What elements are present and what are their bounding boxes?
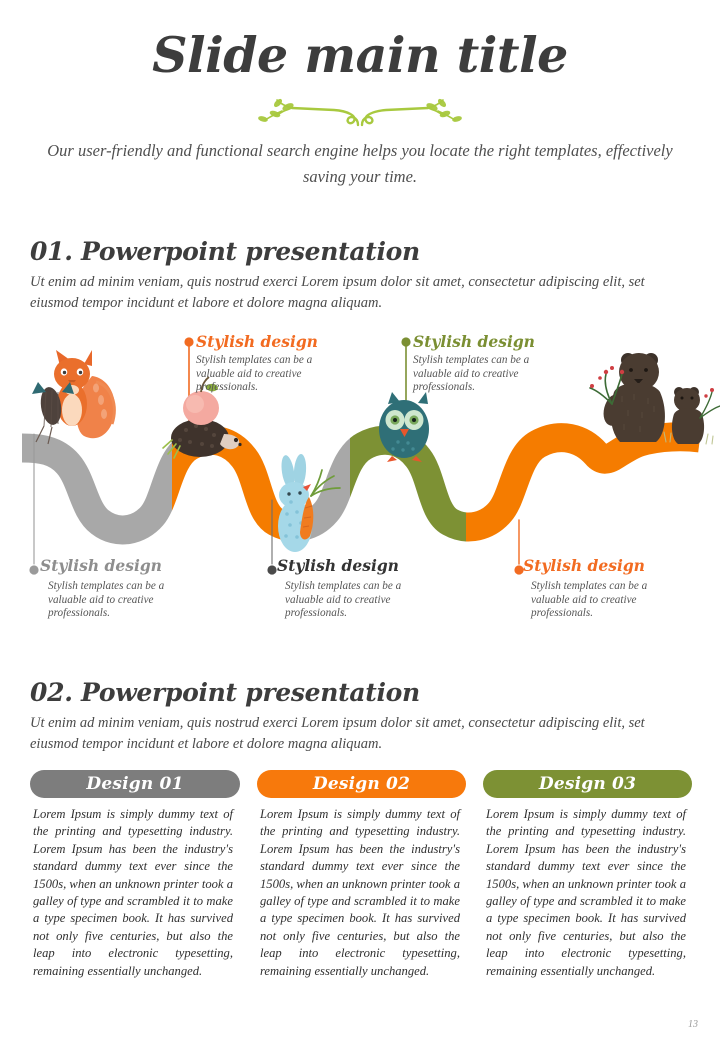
callout-bottom-3: Stylish design Stylish templates can be … xyxy=(523,557,681,621)
section-01-paragraph: Ut enim ad minim veniam, quis nostrud ex… xyxy=(30,272,694,314)
callout-top-2: Stylish design Stylish templates can be … xyxy=(413,333,563,395)
callout-body: Stylish templates can be a valuable aid … xyxy=(285,580,435,621)
section-02-paragraph: Ut enim ad minim veniam, quis nostrud ex… xyxy=(30,713,694,755)
column-body-design-01: Lorem Ipsum is simply dummy text of the … xyxy=(33,806,233,980)
callout-top-1: Stylish design Stylish templates can be … xyxy=(196,333,346,395)
bears-illustration xyxy=(590,353,720,444)
callout-body: Stylish templates can be a valuable aid … xyxy=(531,580,681,621)
callout-body: Stylish templates can be a valuable aid … xyxy=(413,354,563,395)
column-body-design-02: Lorem Ipsum is simply dummy text of the … xyxy=(260,806,460,980)
callout-bottom-2: Stylish design Stylish templates can be … xyxy=(277,557,435,621)
page-title: Slide main title xyxy=(0,26,720,84)
leafy-flourish-divider-icon xyxy=(230,95,490,131)
page-subtitle: Our user-friendly and functional search … xyxy=(40,138,680,190)
section-01-heading: 01. Powerpoint presentation xyxy=(30,237,420,266)
callout-title: Stylish design xyxy=(277,557,435,575)
column-header-design-02[interactable]: Design 02 xyxy=(257,770,466,798)
slide-canvas: Slide main title xyxy=(0,0,720,1040)
callout-title: Stylish design xyxy=(523,557,681,575)
callout-title: Stylish design xyxy=(196,333,346,351)
callout-title: Stylish design xyxy=(413,333,563,351)
callout-bottom-1: Stylish design Stylish templates can be … xyxy=(40,557,198,621)
callout-marker-dot xyxy=(267,565,276,574)
callout-marker-dot xyxy=(401,337,410,346)
column-header-design-03[interactable]: Design 03 xyxy=(483,770,692,798)
column-header-design-01[interactable]: Design 01 xyxy=(30,770,240,798)
column-body-design-03: Lorem Ipsum is simply dummy text of the … xyxy=(486,806,686,980)
callout-marker-dot xyxy=(184,337,193,346)
page-number: 13 xyxy=(688,1019,698,1030)
squirrel-illustration xyxy=(36,350,115,444)
callout-title: Stylish design xyxy=(40,557,198,575)
callout-body: Stylish templates can be a valuable aid … xyxy=(196,354,346,395)
callout-marker-dot xyxy=(29,565,38,574)
section-02-heading: 02. Powerpoint presentation xyxy=(30,678,420,707)
callout-body: Stylish templates can be a valuable aid … xyxy=(48,580,198,621)
